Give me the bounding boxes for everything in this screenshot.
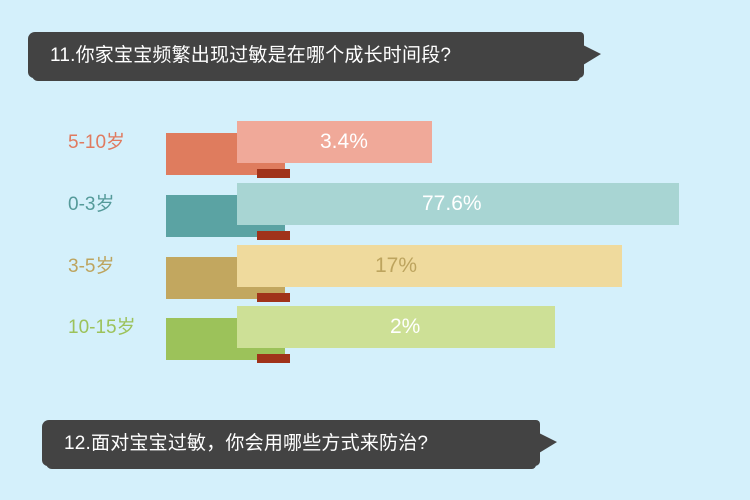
bar-row: 0-3岁77.6%	[0, 183, 750, 245]
question-banner-bottom: 12.面对宝宝过敏，你会用哪些方式来防治?	[42, 420, 540, 466]
bar-category-label: 0-3岁	[68, 195, 164, 214]
bar-notch-marker	[257, 231, 290, 240]
bar-category-label: 3-5岁	[68, 257, 164, 276]
bar-row: 5-10岁3.4%	[0, 121, 750, 183]
bar-value-label: 77.6%	[422, 183, 482, 225]
bar-category-label: 10-15岁	[68, 318, 164, 337]
bar-value-label: 3.4%	[320, 121, 368, 163]
question-banner-bottom-text: 12.面对宝宝过敏，你会用哪些方式来防治?	[42, 434, 428, 453]
banner-bottom-edge	[46, 463, 536, 469]
infographic-page: 11.你家宝宝频繁出现过敏是在哪个成长时间段? 5-10岁3.4%0-3岁77.…	[0, 0, 750, 500]
bar-value-label: 2%	[390, 306, 420, 348]
bar-row: 3-5岁17%	[0, 245, 750, 307]
bar-fill	[237, 245, 622, 287]
bar-notch-marker	[257, 169, 290, 178]
bar-row: 10-15岁2%	[0, 306, 750, 368]
bar-category-label: 5-10岁	[68, 133, 164, 152]
bar-notch-marker	[257, 354, 290, 363]
speech-bubble-tail-icon	[539, 433, 557, 453]
bar-notch-marker	[257, 293, 290, 302]
bar-value-label: 17%	[375, 245, 417, 287]
